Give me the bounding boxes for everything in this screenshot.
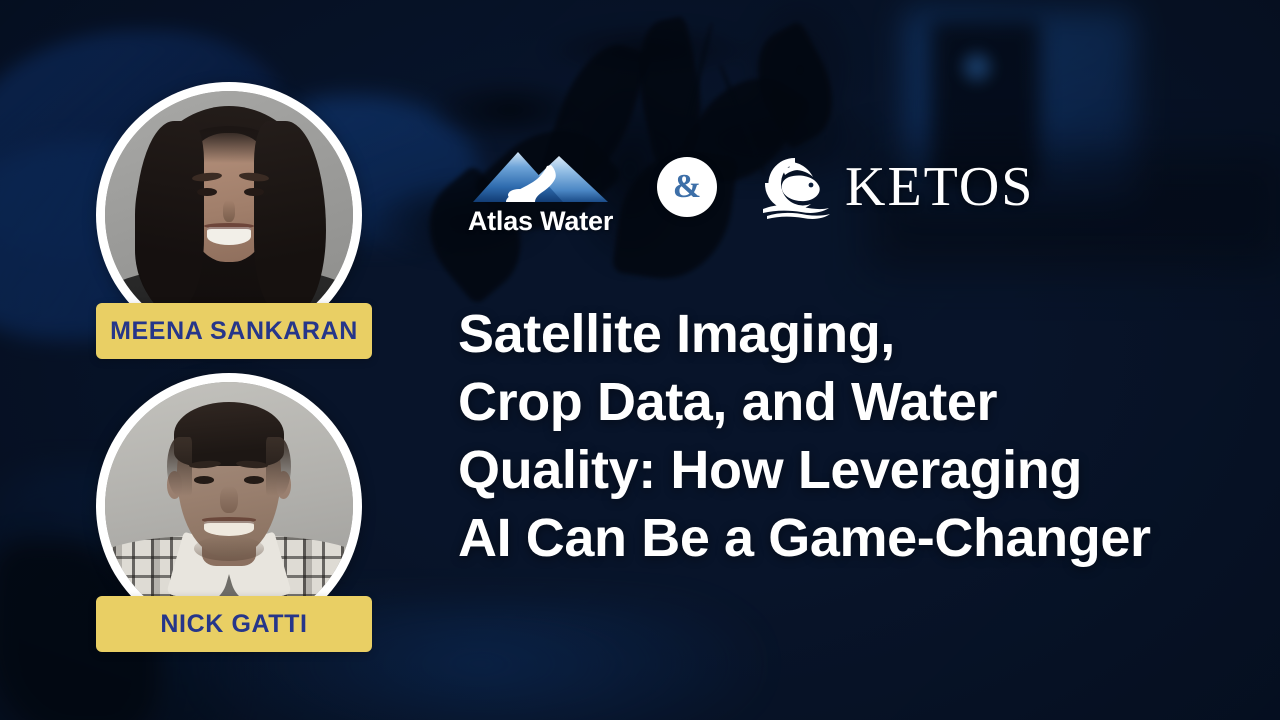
ketos-wordmark: KETOS [845,159,1034,215]
speaker-portrait-nick-gatti [105,382,353,630]
mountain-water-icon [473,150,608,205]
page-title: Satellite Imaging, Crop Data, and Water … [458,300,1218,572]
logo-row: Atlas Water & [458,150,1034,245]
speaker-name-2: NICK GATTI [160,610,307,639]
content-column: Atlas Water & [458,0,1248,720]
headline-line-3: Quality: How Leveraging [458,436,1218,504]
headline-line-2: Crop Data, and Water [458,368,1218,436]
speaker-portrait-meena-sankaran [105,91,353,339]
ampersand-badge-icon: & [657,157,717,217]
atlas-water-logo: Atlas Water [458,150,623,245]
speaker-nameplate-1: MEENA SANKARAN [96,303,372,359]
webinar-promo-banner: MEENA SANKARAN NICK GATTI [0,0,1280,720]
speaker-name-1: MEENA SANKARAN [110,317,358,346]
atlas-water-wordmark: Atlas Water [468,208,613,235]
ampersand-symbol: & [673,170,701,204]
headline-line-1: Satellite Imaging, [458,300,1218,368]
speaker-nameplate-2: NICK GATTI [96,596,372,652]
headline-line-4: AI Can Be a Game-Changer [458,504,1218,572]
whale-wave-icon [759,153,833,221]
speakers-column: MEENA SANKARAN NICK GATTI [0,0,420,720]
ketos-logo: KETOS [759,153,1034,221]
